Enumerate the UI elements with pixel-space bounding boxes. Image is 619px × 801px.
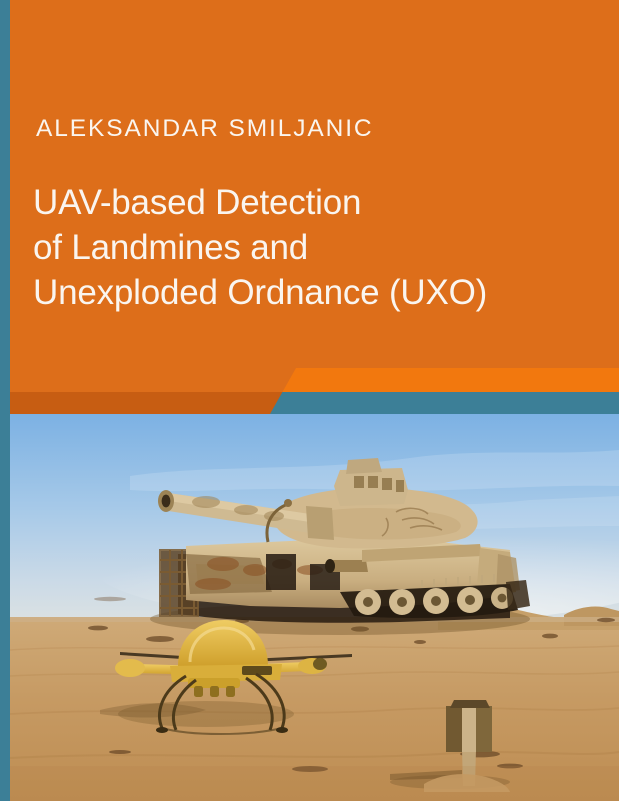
tank-side-opening: [266, 554, 296, 590]
drone-motor-right-cap: [313, 658, 327, 670]
title-line-1: UAV-based Detection: [33, 180, 593, 225]
drone-sensor-pod-2: [210, 686, 219, 697]
cover-photograph: [10, 414, 619, 801]
tank-gun-mantlet: [306, 506, 334, 540]
uxo-fin-center: [462, 706, 476, 752]
tank-antenna-base: [284, 499, 292, 507]
drone-sensor-pod-3: [226, 686, 235, 697]
uxo-fin-left: [446, 706, 462, 752]
drone-foot-left: [156, 727, 168, 733]
tank-cupola-hatch: [346, 458, 382, 474]
uxo-tip: [450, 700, 490, 708]
book-title: UAV-based Detection of Landmines and Une…: [33, 180, 593, 315]
title-line-2: of Landmines and: [33, 225, 593, 270]
drone-foot-right: [276, 727, 288, 733]
tank-damaged-plate: [506, 580, 530, 610]
book-cover: ALEKSANDAR SMILJANIC UAV-based Detection…: [0, 0, 619, 801]
uxo-fin-right: [476, 706, 492, 752]
tank-muzzle-bore: [162, 495, 171, 508]
drone-motor-left: [115, 659, 145, 677]
desert-scene-illustration: [10, 414, 619, 801]
diagonal-band-zone: [10, 368, 619, 414]
tank-hull-tube-bore: [325, 559, 335, 573]
title-line-3: Unexploded Ordnance (UXO): [33, 270, 593, 315]
author-name: ALEKSANDAR SMILJANIC: [36, 115, 374, 143]
left-teal-spine: [0, 0, 10, 801]
drone-sensor-pod-1: [194, 686, 203, 697]
foreground-sand-wash: [10, 766, 619, 801]
